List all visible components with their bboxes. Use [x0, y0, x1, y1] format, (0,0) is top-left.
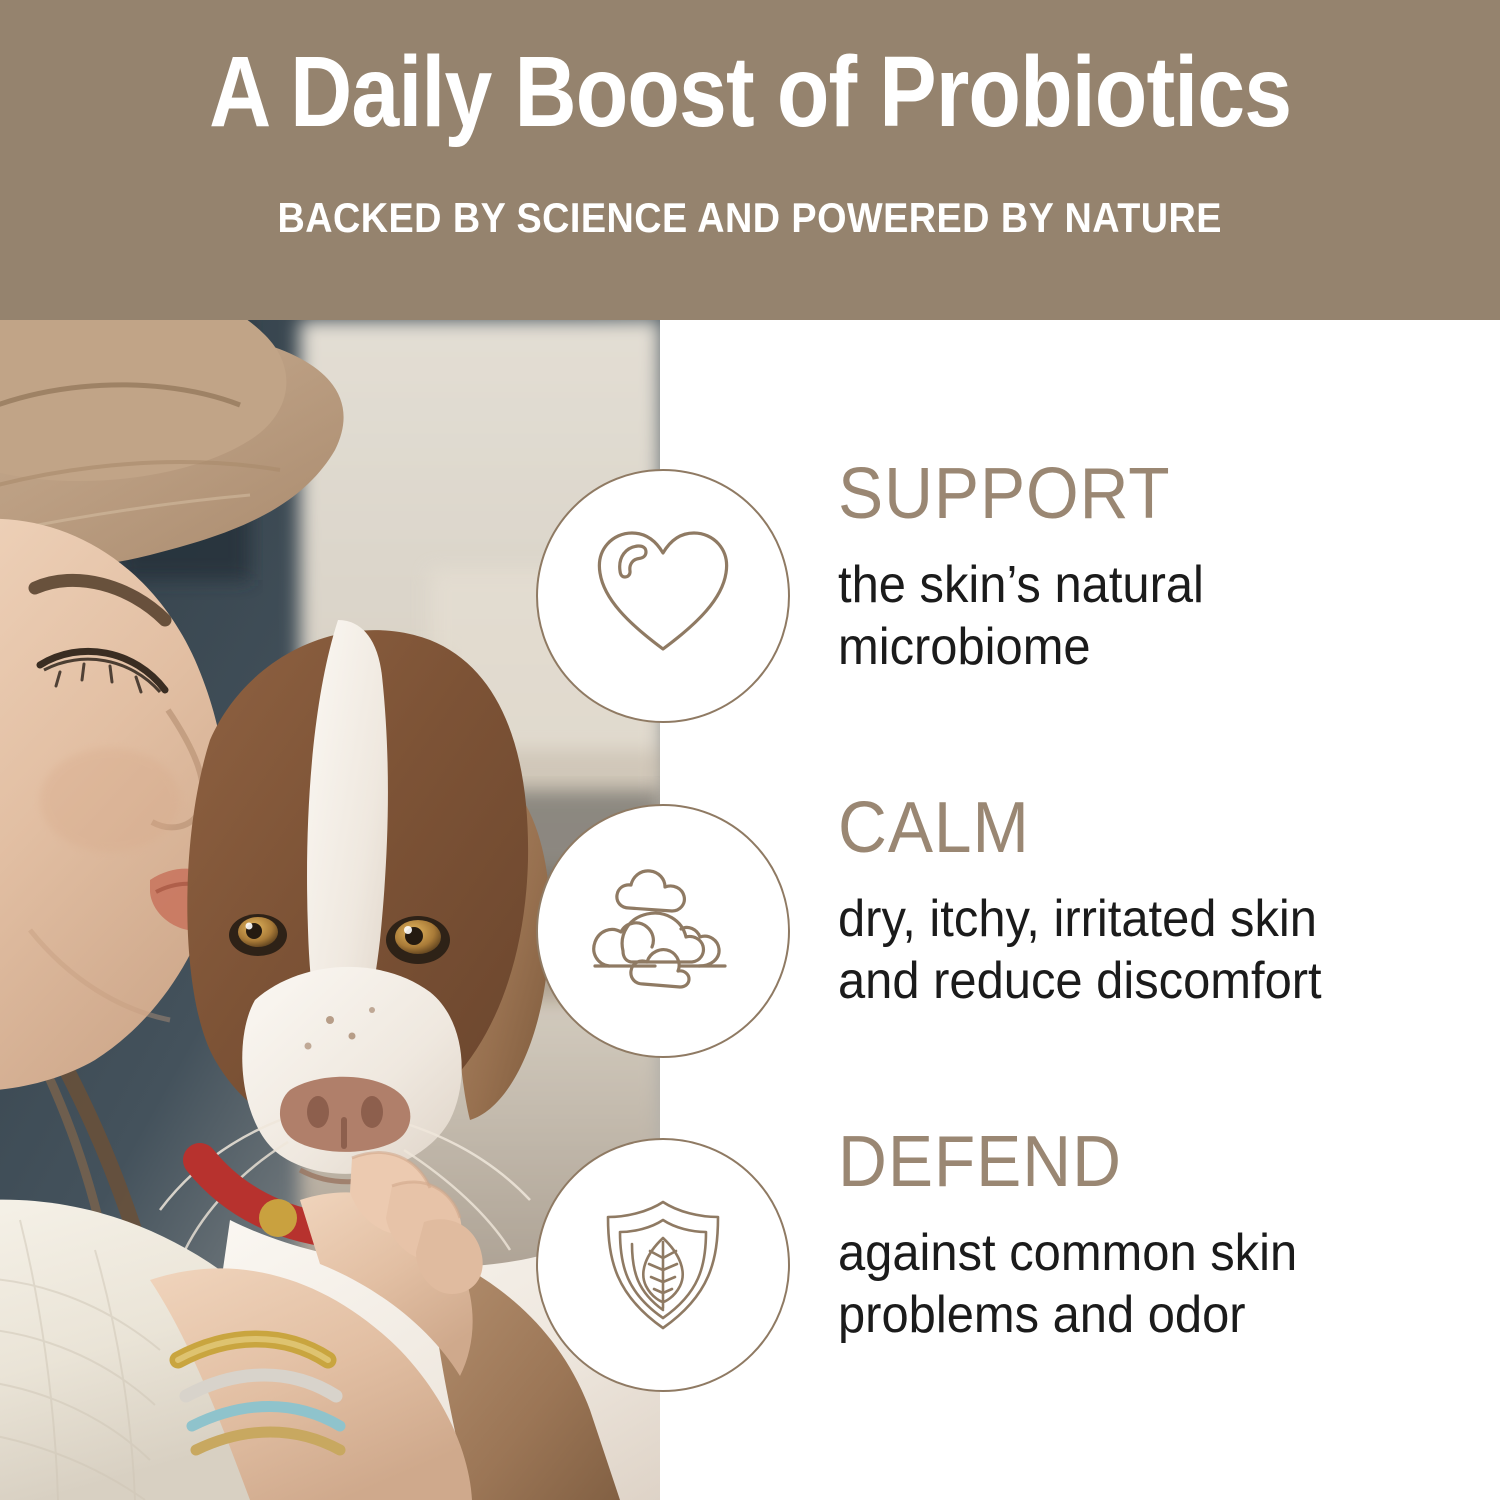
benefit-body-calm: dry, itchy, irritated skin and reduce di… [838, 888, 1440, 1013]
heart-icon [588, 521, 738, 671]
benefit-line: against common skin [838, 1222, 1440, 1284]
clouds-icon [583, 856, 743, 1006]
benefit-heading-support: SUPPORT [838, 458, 1440, 530]
benefit-text-calm: CALM dry, itchy, irritated skin and redu… [838, 792, 1478, 1013]
benefit-icon-circle-calm [536, 804, 790, 1058]
benefit-body-support: the skin’s natural microbiome [838, 554, 1440, 679]
benefit-heading-defend: DEFEND [838, 1126, 1440, 1198]
benefit-line: and reduce discomfort [838, 950, 1440, 1012]
benefit-line: microbiome [838, 616, 1440, 678]
page-subtitle: BACKED BY SCIENCE AND POWERED BY NATURE [278, 194, 1222, 242]
benefit-text-support: SUPPORT the skin’s natural microbiome [838, 458, 1478, 679]
header-banner: A Daily Boost of Probiotics BACKED BY SC… [0, 0, 1500, 320]
benefit-body-defend: against common skin problems and odor [838, 1222, 1440, 1347]
shield-leaf-icon [588, 1190, 738, 1340]
benefit-line: dry, itchy, irritated skin [838, 888, 1440, 950]
benefit-line: problems and odor [838, 1284, 1440, 1346]
benefit-icon-circle-defend [536, 1138, 790, 1392]
benefit-line: the skin’s natural [838, 554, 1440, 616]
benefit-heading-calm: CALM [838, 792, 1440, 864]
product-benefits-infographic: A Daily Boost of Probiotics BACKED BY SC… [0, 0, 1500, 1500]
benefit-text-defend: DEFEND against common skin problems and … [838, 1126, 1478, 1347]
page-title: A Daily Boost of Probiotics [209, 42, 1291, 142]
benefit-icon-circle-support [536, 469, 790, 723]
